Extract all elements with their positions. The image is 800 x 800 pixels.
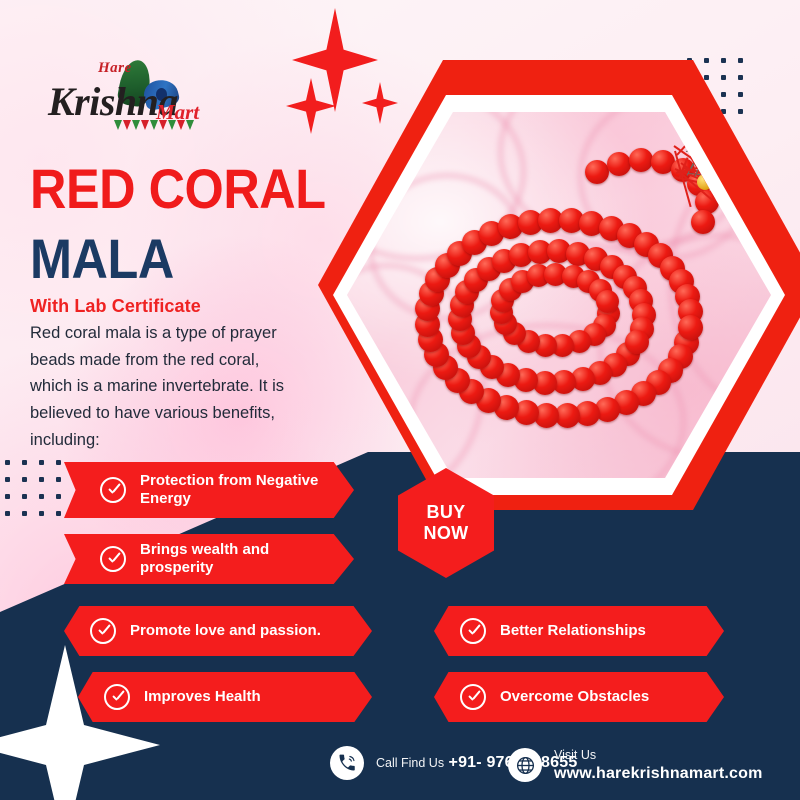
benefit-ribbon: Protection from Negative Energy <box>64 462 354 518</box>
description-text: Red coral mala is a type of prayer beads… <box>30 320 298 454</box>
coral-bead <box>585 160 609 184</box>
coral-bead <box>607 152 631 176</box>
benefit-ribbon: Overcome Obstacles <box>434 672 724 722</box>
benefit-ribbon: Better Relationships <box>434 606 724 656</box>
benefit-label: Overcome Obstacles <box>500 688 675 706</box>
footer-contact-website[interactable]: Visit Us www.harekrishnamart.com <box>508 746 800 785</box>
phone-icon <box>330 746 364 780</box>
subtitle: With Lab Certificate <box>30 296 201 317</box>
logo-word-hare: Hare <box>98 60 132 77</box>
globe-icon <box>508 748 542 782</box>
benefit-ribbon: Promote love and passion. <box>64 606 372 656</box>
check-circle-icon <box>90 618 116 644</box>
coral-bead <box>691 210 715 234</box>
check-circle-icon <box>100 477 126 503</box>
sparkle-star-icon <box>286 78 336 134</box>
page-title-line1: RED CORAL <box>30 162 326 216</box>
footer-phone-label: Call Find Us <box>376 756 444 770</box>
benefit-label: Promote love and passion. <box>130 622 347 640</box>
check-circle-icon <box>460 684 486 710</box>
footer-website-label: Visit Us <box>554 748 596 762</box>
promotional-poster: BUY NOW Hare Krishna Mart RED CORAL MALA… <box>0 0 800 800</box>
buy-now-line2: NOW <box>424 523 469 544</box>
benefit-label: Better Relationships <box>500 622 672 640</box>
sparkle-star-icon <box>362 82 398 124</box>
coral-bead <box>625 330 649 354</box>
benefit-label: Brings wealth and prosperity <box>140 541 354 578</box>
footer-website-value: www.harekrishnamart.com <box>554 765 763 782</box>
sparkle-star-icon <box>292 8 378 112</box>
buy-now-line1: BUY <box>427 502 466 523</box>
dot-grid-icon <box>5 460 61 516</box>
coral-bead <box>678 315 703 340</box>
check-circle-icon <box>104 684 130 710</box>
page-title-line2: MALA <box>30 232 174 286</box>
benefit-ribbon: Improves Health <box>78 672 372 722</box>
benefit-ribbon: Brings wealth and prosperity <box>64 534 354 584</box>
brand-logo[interactable]: Hare Krishna Mart <box>36 58 196 144</box>
benefit-label: Protection from Negative Energy <box>140 472 354 509</box>
bunting-decoration <box>114 120 192 130</box>
check-circle-icon <box>100 546 126 572</box>
benefit-label: Improves Health <box>144 688 287 706</box>
check-circle-icon <box>460 618 486 644</box>
